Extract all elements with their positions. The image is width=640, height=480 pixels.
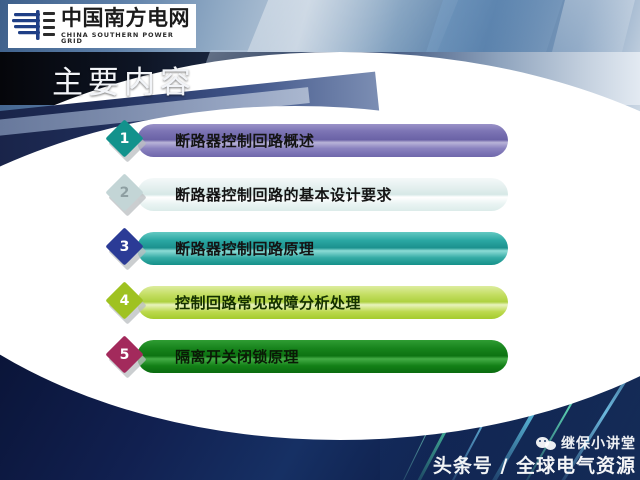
- agenda-item-number-badge[interactable]: 2: [108, 176, 146, 214]
- agenda-item[interactable]: 控制回路常见故障分析处理4: [108, 284, 508, 322]
- agenda-item-label: 断路器控制回路概述: [175, 130, 315, 151]
- agenda-item-label: 断路器控制回路的基本设计要求: [175, 184, 392, 205]
- logo-chinese-name: 中国南方电网: [61, 8, 192, 29]
- agenda-item-bar[interactable]: 断路器控制回路的基本设计要求: [137, 178, 508, 211]
- agenda-item[interactable]: 断路器控制回路概述1: [108, 122, 508, 160]
- page-title: 主要内容: [52, 57, 196, 102]
- watermark: 继保小讲堂 头条号 / 全球电气资源: [433, 433, 636, 478]
- agenda-item-number-badge[interactable]: 4: [108, 284, 146, 322]
- agenda-item-label: 隔离开关闭锁原理: [175, 346, 299, 367]
- wechat-icon: [536, 434, 558, 452]
- logo-english-name: CHINA SOUTHERN POWER GRID: [61, 32, 192, 45]
- agenda-item[interactable]: 断路器控制回路原理3: [108, 230, 508, 268]
- agenda-item[interactable]: 隔离开关闭锁原理5: [108, 338, 508, 376]
- agenda-item-bar[interactable]: 控制回路常见故障分析处理: [137, 286, 508, 319]
- watermark-wechat-name: 继保小讲堂: [561, 433, 636, 453]
- presentation-slide: 中国南方电网 CHINA SOUTHERN POWER GRID 主要内容 断路…: [0, 0, 640, 480]
- agenda-item-bar[interactable]: 断路器控制回路原理: [137, 232, 508, 265]
- power-grid-mark-icon: [12, 8, 58, 44]
- agenda-item[interactable]: 断路器控制回路的基本设计要求2: [108, 176, 508, 214]
- agenda-item-number: 4: [111, 287, 138, 314]
- agenda-item-bar[interactable]: 断路器控制回路概述: [137, 124, 508, 157]
- logo-text-block: 中国南方电网 CHINA SOUTHERN POWER GRID: [61, 8, 192, 45]
- agenda-item-number-badge[interactable]: 1: [108, 122, 146, 160]
- agenda-item-number: 3: [111, 233, 138, 260]
- agenda-item-bar[interactable]: 隔离开关闭锁原理: [137, 340, 508, 373]
- watermark-wechat-line: 继保小讲堂: [433, 433, 636, 453]
- agenda-item-number: 5: [111, 341, 138, 368]
- agenda-item-label: 断路器控制回路原理: [175, 238, 315, 259]
- agenda-item-number-badge[interactable]: 5: [108, 338, 146, 376]
- agenda-item-number-badge[interactable]: 3: [108, 230, 146, 268]
- agenda-list: 断路器控制回路概述1断路器控制回路的基本设计要求2断路器控制回路原理3控制回路常…: [108, 122, 508, 392]
- china-southern-power-grid-logo: 中国南方电网 CHINA SOUTHERN POWER GRID: [8, 4, 196, 48]
- agenda-item-number: 2: [111, 179, 138, 206]
- watermark-channel: 头条号 / 全球电气资源: [433, 451, 636, 478]
- agenda-item-label: 控制回路常见故障分析处理: [175, 292, 361, 313]
- agenda-item-number: 1: [111, 125, 138, 152]
